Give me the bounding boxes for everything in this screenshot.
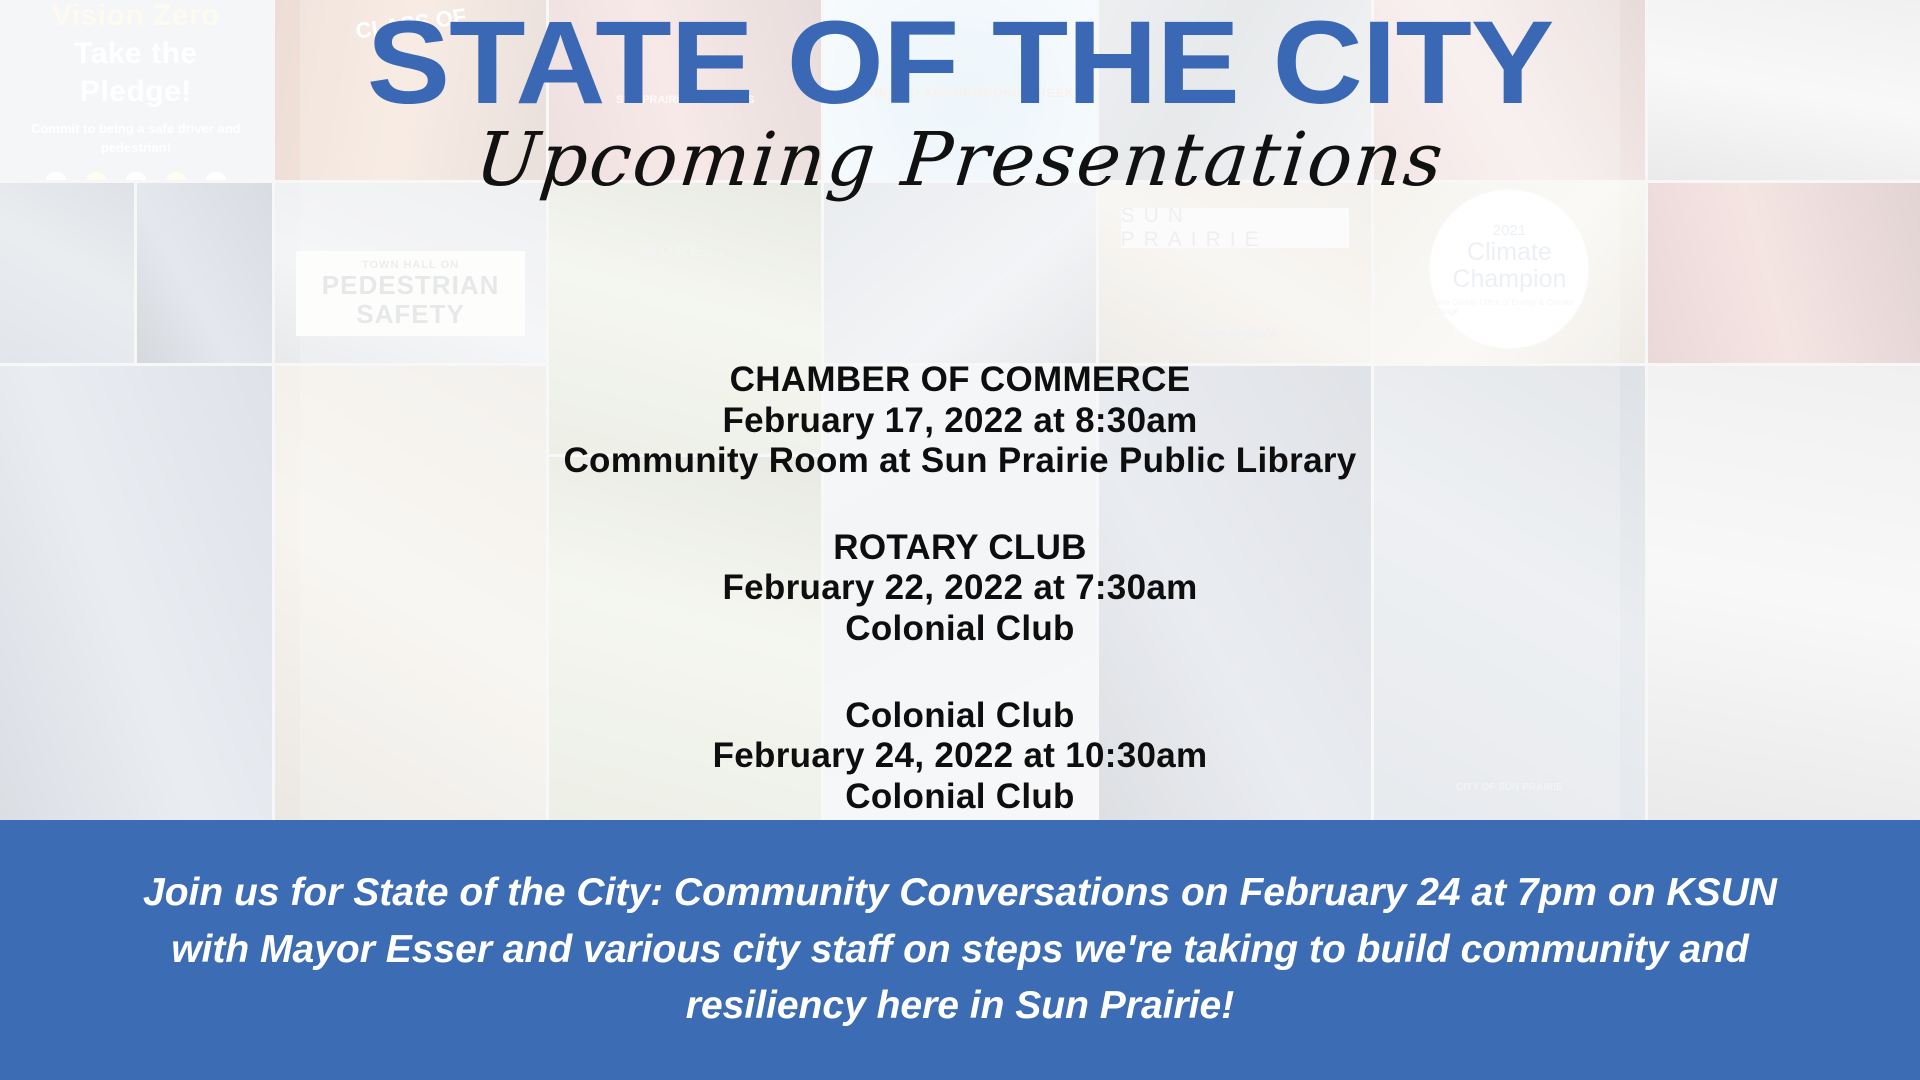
event-date: February 17, 2022 at 8:30am — [0, 401, 1920, 442]
event-location: Community Room at Sun Prairie Public Lib… — [0, 441, 1920, 482]
event-date: February 22, 2022 at 7:30am — [0, 568, 1920, 609]
event-date: February 24, 2022 at 10:30am — [0, 736, 1920, 777]
script-subtitle: Upcoming Presentations — [0, 122, 1920, 200]
event-name: ROTARY CLUB — [0, 528, 1920, 569]
event-name: CHAMBER OF COMMERCE — [0, 360, 1920, 401]
event-item: Colonial Club February 24, 2022 at 10:30… — [0, 696, 1920, 818]
event-location: Colonial Club — [0, 609, 1920, 650]
footer-message: Join us for State of the City: Community… — [130, 865, 1790, 1035]
poster-canvas: Vision Zero Take the Pledge! Commit to b… — [0, 0, 1920, 1080]
footer-banner: Join us for State of the City: Community… — [0, 820, 1920, 1080]
event-item: ROTARY CLUB February 22, 2022 at 7:30am … — [0, 528, 1920, 650]
event-name: Colonial Club — [0, 696, 1920, 737]
page-title: STATE OF THE CITY — [0, 4, 1920, 122]
event-item: CHAMBER OF COMMERCE February 17, 2022 at… — [0, 360, 1920, 482]
presentations-list: CHAMBER OF COMMERCE February 17, 2022 at… — [0, 360, 1920, 817]
event-location: Colonial Club — [0, 777, 1920, 818]
